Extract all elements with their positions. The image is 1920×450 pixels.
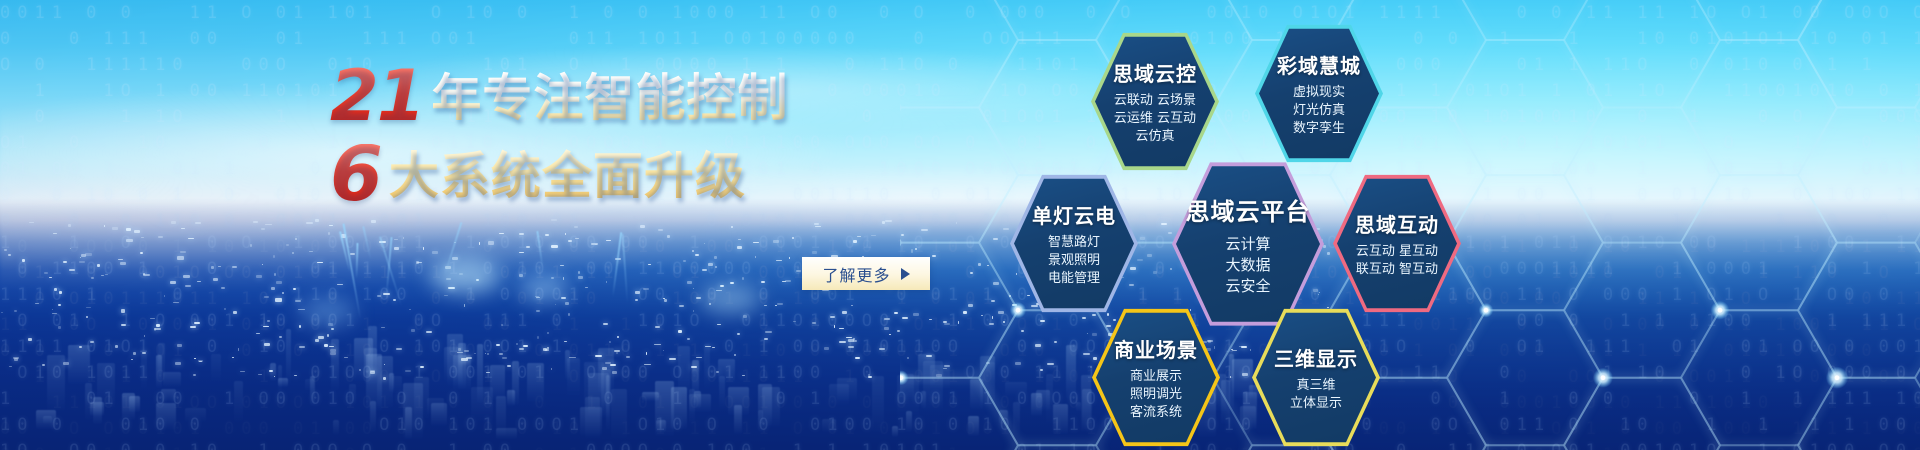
hexagon-card-title: 思域云控	[1113, 58, 1197, 87]
city-light	[885, 220, 892, 222]
hexagon-card-title: 商业场景	[1114, 334, 1198, 363]
city-light	[551, 219, 556, 221]
city-light	[181, 228, 184, 229]
city-light	[195, 222, 201, 224]
city-light	[814, 223, 819, 225]
city-light	[29, 222, 35, 223]
city-light	[265, 224, 272, 226]
hexagon-card-content: 商业场景商业展示照明调光客流系统	[1108, 334, 1204, 422]
city-light	[640, 225, 645, 228]
hexagon-card-subitem: 联互动 智互动	[1355, 261, 1439, 279]
hexagon-card-content: 彩域慧城虚拟现实灯光仿真数字孪生	[1271, 50, 1367, 138]
city-light	[306, 222, 313, 224]
hexagon-card-subitem: 真三维	[1274, 377, 1358, 395]
hexagon-card-subitem: 智慧路灯	[1032, 234, 1116, 252]
hexagon-card-subitem: 云安全	[1186, 276, 1311, 297]
hexagon-card-content: 思域云控云联动 云场景云运维 云互动云仿真	[1107, 58, 1203, 146]
hexagon-card-subitem: 云计算	[1186, 234, 1311, 255]
hexagon-card-subitem: 照明调光	[1114, 386, 1198, 404]
hexagon-card-title: 思域云平台	[1186, 192, 1311, 227]
city-light	[329, 225, 333, 226]
hexagon-card-subitem: 虚拟现实	[1277, 84, 1361, 102]
hexagon-card-subitem: 云联动 云场景	[1113, 92, 1197, 110]
hexagon-card-subitem: 数字孪生	[1277, 120, 1361, 138]
hexagon-card-subitem: 客流系统	[1114, 404, 1198, 422]
hexagon-card-title: 三维显示	[1274, 343, 1358, 372]
city-light	[315, 219, 319, 222]
hexagon-card-sublist: 真三维立体显示	[1274, 377, 1358, 413]
city-light	[253, 221, 258, 223]
headline-number-6: 6	[330, 144, 381, 204]
hexagon-card-subitem: 大数据	[1186, 255, 1311, 276]
learn-more-button[interactable]: 了解更多	[802, 257, 930, 290]
hexagon-card-subitem: 电能管理	[1032, 270, 1116, 288]
headline-number-21: 21	[330, 66, 423, 126]
city-light	[731, 226, 732, 228]
hexagon-card-sublist: 智慧路灯景观照明电能管理	[1032, 234, 1116, 288]
hexagon-card-sublist: 云联动 云场景云运维 云互动云仿真	[1113, 92, 1197, 146]
hexagon-card-subitem: 云运维 云互动	[1113, 110, 1197, 128]
headline-line-1: 21 年专注智能控制	[330, 62, 800, 126]
hexagon-card-subitem: 云互动 星互动	[1355, 243, 1439, 261]
hexagon-card-sublist: 云互动 星互动联互动 智互动	[1355, 243, 1439, 279]
hexagon-card-subitem: 景观照明	[1032, 252, 1116, 270]
promo-banner: 0011 0 0 11 O 01 101 O 10 0 1 0 0 1000 1…	[0, 0, 1920, 450]
headline-text-2: 大系统全面升级	[389, 148, 746, 204]
hexagon-card-title: 彩域慧城	[1277, 50, 1361, 79]
hexagon-card-content: 三维显示真三维立体显示	[1268, 343, 1364, 413]
play-triangle-icon	[901, 268, 910, 280]
hexagon-card-sublist: 商业展示照明调光客流系统	[1114, 368, 1198, 422]
hexagon-card-content: 思域云平台云计算大数据云安全	[1180, 192, 1317, 297]
headline-text-1: 年专注智能控制	[431, 70, 788, 126]
city-light	[815, 226, 821, 227]
headline-line-2: 6 大系统全面升级	[330, 140, 800, 204]
learn-more-label: 了解更多	[822, 262, 890, 286]
city-light	[574, 226, 578, 229]
hexagon-card-content: 单灯云电智慧路灯景观照明电能管理	[1026, 200, 1122, 288]
hexagon-card-title: 思域互动	[1355, 209, 1439, 238]
hexagon-card-sublist: 虚拟现实灯光仿真数字孪生	[1277, 84, 1361, 138]
hexagon-card-subitem: 云仿真	[1113, 128, 1197, 146]
city-light	[171, 221, 176, 223]
headline-block: 21 年专注智能控制 6 大系统全面升级	[330, 62, 800, 204]
hexagon-card-sublist: 云计算大数据云安全	[1186, 234, 1311, 297]
hexagon-card-subitem: 灯光仿真	[1277, 102, 1361, 120]
hexagon-card-title: 单灯云电	[1032, 200, 1116, 229]
hexagon-card-subitem: 立体显示	[1274, 395, 1358, 413]
city-light	[371, 220, 376, 223]
city-light	[68, 224, 71, 227]
hexagon-card-subitem: 商业展示	[1114, 368, 1198, 386]
hexagon-card-content: 思域互动云互动 星互动联互动 智互动	[1349, 209, 1445, 279]
city-light	[104, 225, 105, 227]
